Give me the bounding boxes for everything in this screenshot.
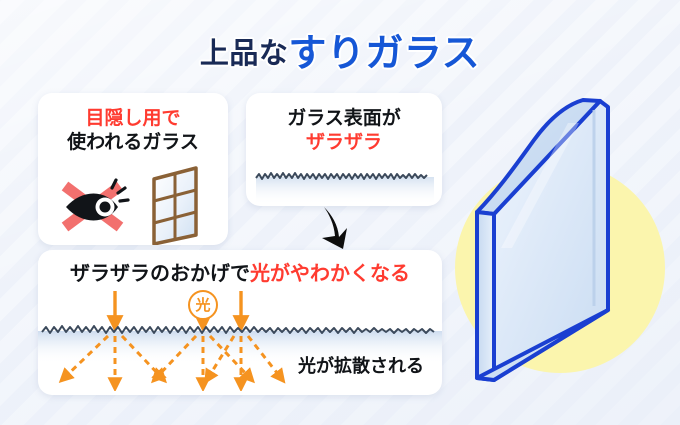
- page-title: 上品なすりガラス: [0, 22, 680, 77]
- panel-rough-surface: ガラス表面が ザラザラ: [246, 93, 442, 206]
- privacy-icon-group: [38, 169, 228, 243]
- panel-rough-line1: ガラス表面が: [287, 108, 401, 129]
- panel-privacy-heading: 目隠し用で 使われるガラス: [38, 93, 228, 155]
- panel-privacy: 目隠し用で 使われるガラス: [38, 93, 228, 245]
- panel-rough-heading: ガラス表面が ザラザラ: [246, 93, 442, 155]
- panel-privacy-line2: 使われるガラス: [67, 132, 199, 153]
- rough-surface-line-icon: [254, 165, 434, 205]
- panel-light-diffusion: ザラザラのおかげで光がやわかくなる 光: [38, 250, 442, 395]
- panel-diffuse-line1: ザラザラのおかげで: [70, 263, 250, 285]
- title-prefix: 上品な: [200, 38, 289, 70]
- frosted-glass-illustration: [448, 78, 674, 408]
- panel-privacy-line1: 目隠し用で: [85, 108, 180, 129]
- curved-down-arrow-icon: [310, 205, 362, 253]
- light-badge: 光: [188, 290, 218, 320]
- panel-rough-line2: ザラザラ: [306, 132, 382, 153]
- eye-crossed-out-icon: [56, 173, 132, 239]
- panel-diffuse-line2: 光がやわかくなる: [250, 263, 410, 285]
- title-main: すりガラス: [288, 33, 480, 75]
- window-icon: [146, 165, 206, 245]
- diffusion-caption: 光が拡散される: [298, 352, 424, 378]
- panel-diffuse-heading: ザラザラのおかげで光がやわかくなる: [38, 250, 442, 287]
- diffusion-diagram: 光: [38, 286, 442, 391]
